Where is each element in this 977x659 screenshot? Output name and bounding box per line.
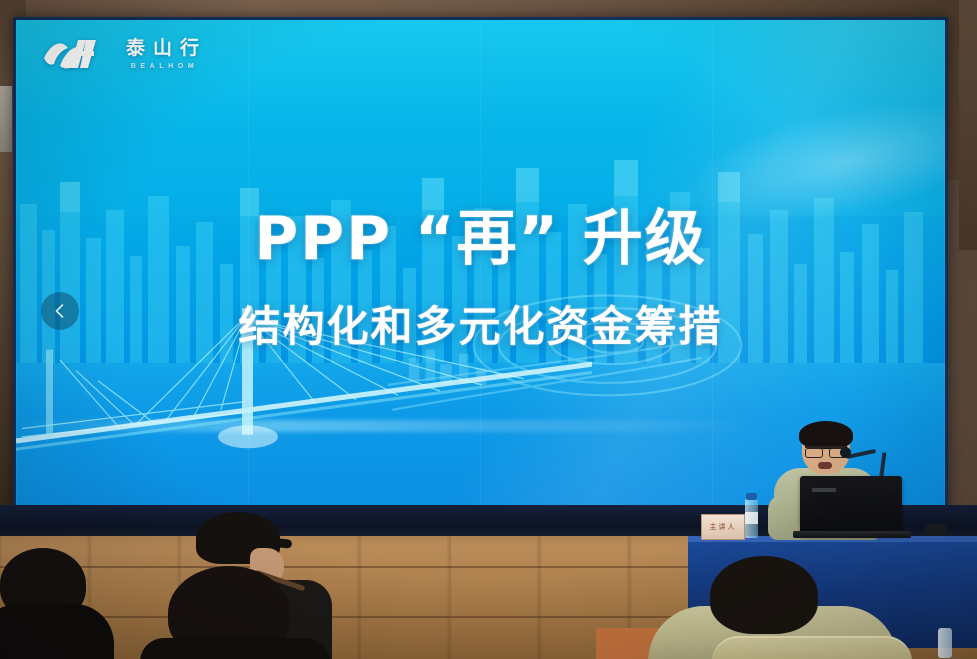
chair-back (712, 636, 912, 659)
laptop-base (793, 531, 911, 538)
audience-body (140, 638, 330, 659)
audience-body (0, 604, 114, 659)
logo-english-name: BEALHOM (127, 63, 199, 70)
brand-logo: 泰山行 BEALHOM (42, 36, 207, 72)
presenter-hair (799, 421, 853, 449)
foreground-person-head (710, 556, 818, 634)
mouse[interactable] (925, 524, 947, 536)
logo-chinese-name: 泰山行 (118, 39, 207, 58)
right-wall-strip (959, 0, 977, 250)
bottle-cap (746, 493, 757, 500)
presenter-mouth (818, 462, 832, 469)
laptop-badge (812, 488, 836, 492)
bottle-label (745, 512, 758, 524)
table-water-bottle (938, 628, 952, 658)
sh-monogram-icon (42, 36, 104, 72)
prev-slide-button[interactable] (41, 292, 79, 330)
chevron-left-icon (52, 303, 68, 319)
microphone-head (840, 447, 851, 458)
laptop[interactable] (800, 476, 902, 534)
slide-bridge (16, 304, 592, 480)
name-card: 主讲人 (701, 514, 745, 540)
wall-light-panel (0, 86, 12, 152)
name-card-text: 主讲人 (710, 522, 737, 532)
photo-scene: 泰山行 BEALHOM PPP “再” 升级 结构化和多元化资金筹措 (0, 0, 977, 659)
